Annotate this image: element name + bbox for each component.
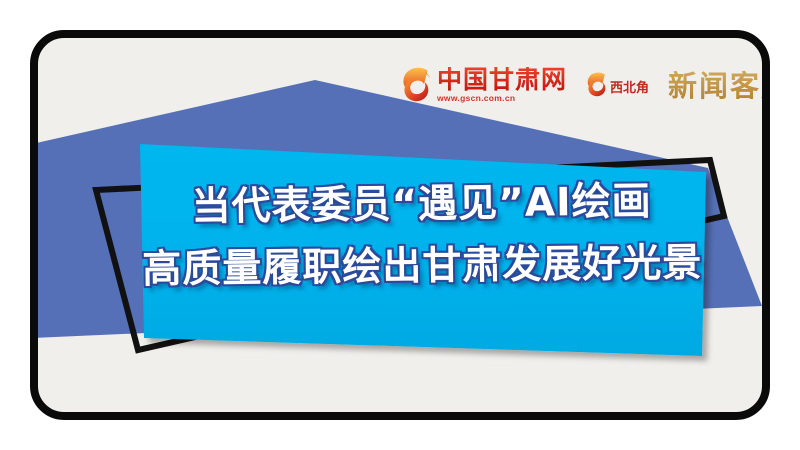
northwest-corner-logo[interactable]: 西北角	[586, 71, 649, 97]
gansu-net-text: 中国甘肃网 www.gscn.com.cn	[437, 67, 567, 103]
northwest-corner-name: 西北角	[610, 77, 649, 96]
headline-block: 当代表委员“遇见”AI绘画 高质量履职绘出甘肃发展好光景	[141, 175, 702, 297]
news-client-label: 新闻客户端	[668, 63, 762, 105]
gansu-net-url: www.gscn.com.cn	[437, 94, 515, 103]
poster-stage: 中国甘肃网 www.gscn.com.cn 西北角 新闻客户端	[0, 0, 800, 450]
poster-frame: 中国甘肃网 www.gscn.com.cn 西北角 新闻客户端	[30, 30, 770, 420]
swirl-flame-icon	[401, 66, 432, 102]
headline-line-1: 当代表委员“遇见”AI绘画	[141, 175, 702, 236]
headline-line-2: 高质量履职绘出甘肃发展好光景	[142, 236, 703, 297]
publisher-logo-bar: 中国甘肃网 www.gscn.com.cn 西北角 新闻客户端	[401, 63, 762, 105]
gansu-net-logo[interactable]: 中国甘肃网 www.gscn.com.cn	[401, 66, 567, 102]
swirl-flame-small-icon	[586, 71, 608, 97]
gansu-net-name: 中国甘肃网	[437, 67, 567, 92]
poster-canvas: 中国甘肃网 www.gscn.com.cn 西北角 新闻客户端	[38, 38, 762, 412]
